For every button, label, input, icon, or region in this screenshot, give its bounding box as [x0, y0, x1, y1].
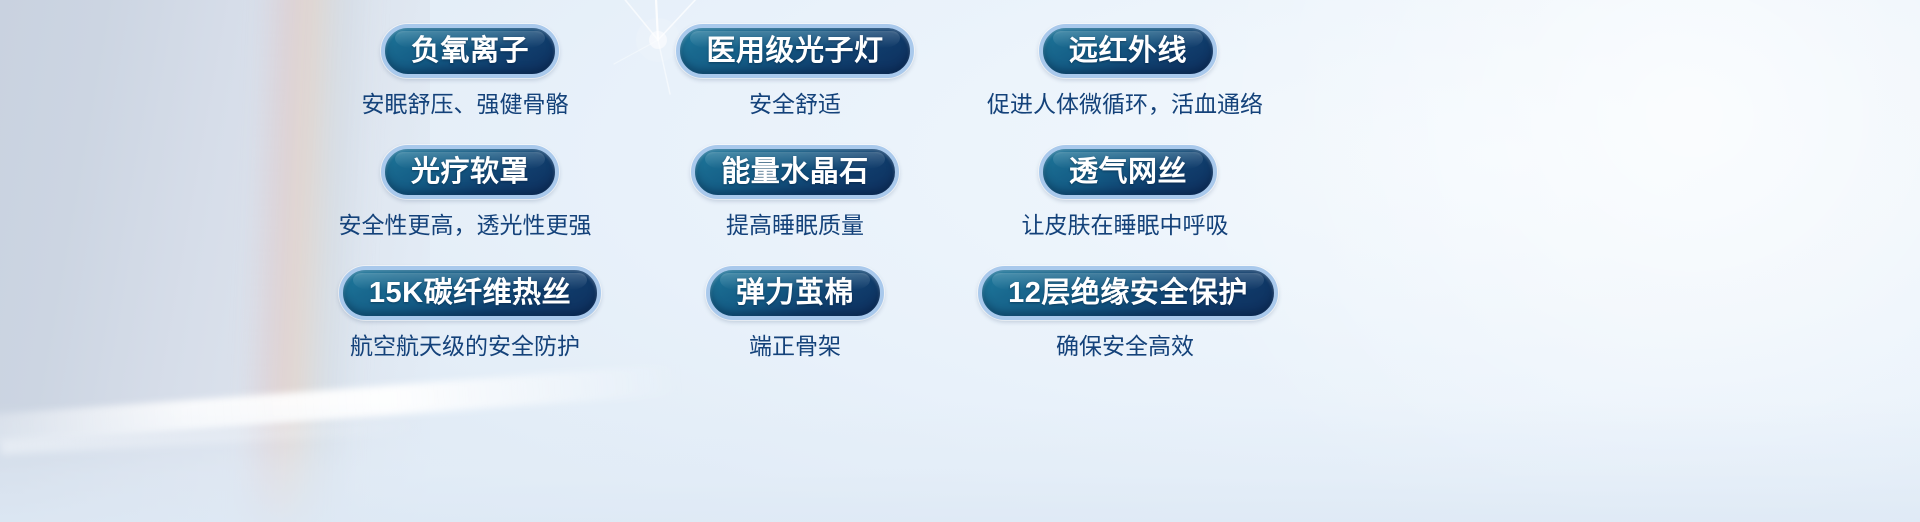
- feature-pill[interactable]: 弹力茧棉: [706, 266, 884, 320]
- feature-pill[interactable]: 光疗软罩: [381, 145, 559, 199]
- feature-title: 透气网丝: [1069, 158, 1187, 187]
- feature-title: 医用级光子灯: [706, 37, 883, 66]
- feature-pill[interactable]: 负氧离子: [381, 24, 559, 78]
- feature-caption: 确保安全高效: [1056, 334, 1194, 359]
- feature-caption: 安全性更高，透光性更强: [339, 213, 592, 238]
- feature-item: 弹力茧棉 端正骨架: [630, 266, 960, 387]
- feature-item: 透气网丝 让皮肤在睡眠中呼吸: [960, 145, 1290, 266]
- feature-title: 15K碳纤维热丝: [369, 279, 571, 308]
- feature-title: 能量水晶石: [721, 158, 869, 187]
- feature-caption: 让皮肤在睡眠中呼吸: [1022, 213, 1229, 238]
- feature-grid: 负氧离子 安眠舒压、强健骨骼 医用级光子灯 安全舒适 远红外线 促进人体微循环，…: [300, 24, 1290, 387]
- feature-item: 能量水晶石 提高睡眠质量: [630, 145, 960, 266]
- feature-item: 负氧离子 安眠舒压、强健骨骼: [300, 24, 630, 145]
- feature-item: 光疗软罩 安全性更高，透光性更强: [300, 145, 630, 266]
- feature-caption: 安全舒适: [749, 92, 841, 117]
- feature-pill[interactable]: 透气网丝: [1039, 145, 1217, 199]
- feature-title: 光疗软罩: [411, 158, 529, 187]
- feature-caption: 提高睡眠质量: [726, 213, 864, 238]
- feature-item: 15K碳纤维热丝 航空航天级的安全防护: [300, 266, 630, 387]
- feature-title: 12层绝缘安全保护: [1008, 279, 1248, 308]
- feature-caption: 航空航天级的安全防护: [350, 334, 580, 359]
- feature-item: 远红外线 促进人体微循环，活血通络: [960, 24, 1290, 145]
- feature-title: 负氧离子: [411, 37, 529, 66]
- feature-item: 医用级光子灯 安全舒适: [630, 24, 960, 145]
- feature-caption: 安眠舒压、强健骨骼: [362, 92, 569, 117]
- feature-pill[interactable]: 医用级光子灯: [676, 24, 913, 78]
- feature-highlight-banner: 负氧离子 安眠舒压、强健骨骼 医用级光子灯 安全舒适 远红外线 促进人体微循环，…: [0, 0, 1920, 522]
- feature-caption: 端正骨架: [749, 334, 841, 359]
- feature-pill[interactable]: 远红外线: [1039, 24, 1217, 78]
- background-bottom-fade: [0, 402, 1920, 522]
- feature-pill[interactable]: 15K碳纤维热丝: [339, 266, 601, 320]
- feature-pill[interactable]: 能量水晶石: [691, 145, 899, 199]
- feature-item: 12层绝缘安全保护 确保安全高效: [960, 266, 1290, 387]
- feature-title: 远红外线: [1069, 37, 1187, 66]
- feature-title: 弹力茧棉: [736, 279, 854, 308]
- feature-caption: 促进人体微循环，活血通络: [987, 92, 1263, 117]
- feature-pill[interactable]: 12层绝缘安全保护: [978, 266, 1278, 320]
